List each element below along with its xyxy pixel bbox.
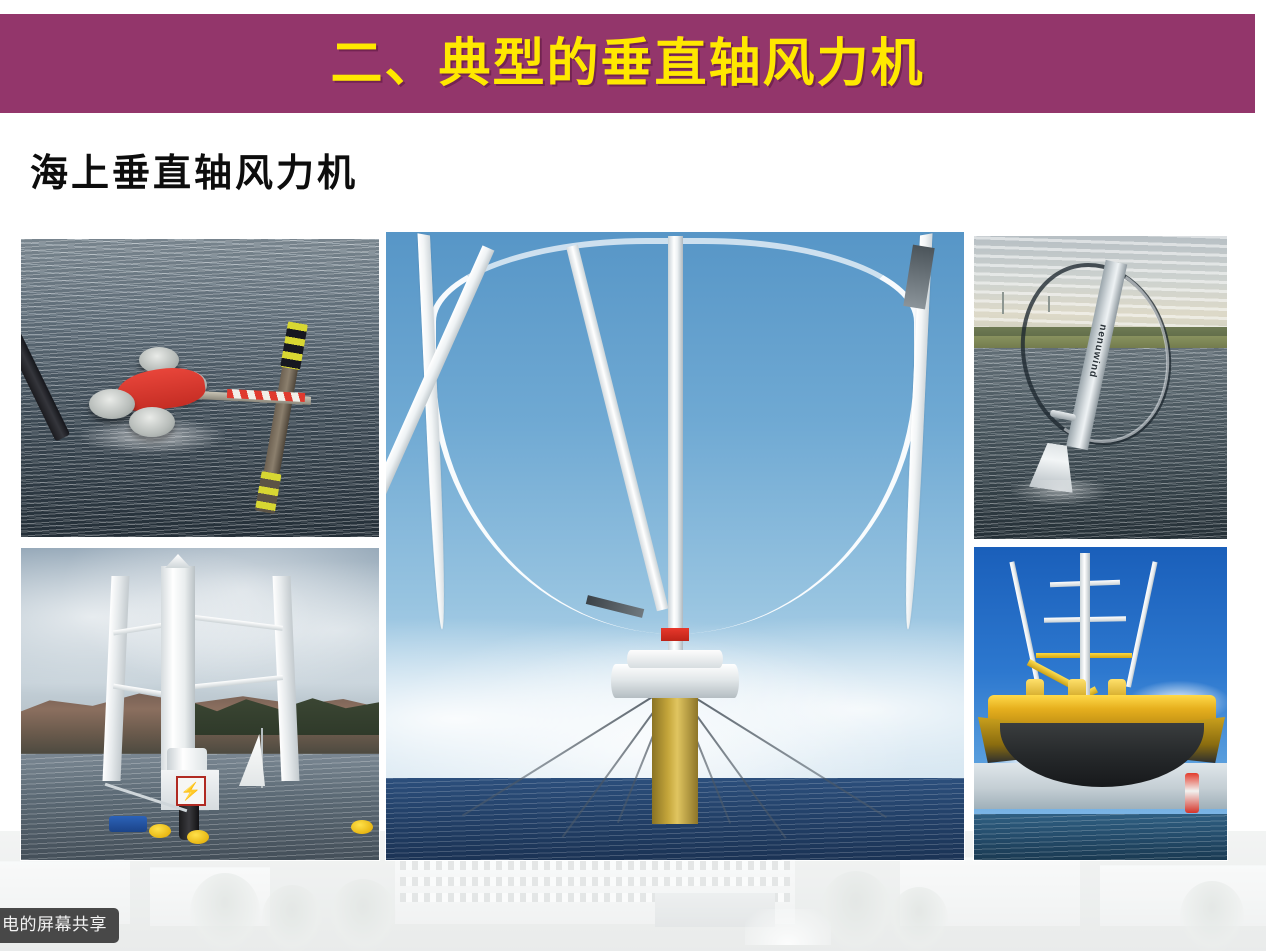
floating-platform: [611, 664, 739, 698]
watermark-window-row-1: [400, 861, 790, 870]
slide-title-band: 二、典型的垂直轴风力机: [0, 14, 1255, 113]
spar-column: [652, 694, 698, 824]
photo-scene: [386, 232, 964, 860]
float-pontoon: [89, 389, 135, 419]
watermark-tree: [1180, 881, 1244, 951]
photo-scene: nenuwind: [974, 236, 1227, 539]
photo-scene: [21, 239, 379, 537]
watermark-tree: [330, 879, 396, 951]
mast-red-marking: [661, 628, 689, 641]
channel-marker-buoy: [1185, 773, 1199, 813]
page-title: 二、典型的垂直轴风力机: [330, 38, 924, 90]
large-vawt-render: [386, 232, 964, 860]
watermark-tree: [190, 873, 260, 951]
electrical-hazard-icon: ⚡: [176, 776, 206, 806]
watermark-window-row-2: [400, 877, 790, 886]
h-rotor-vawt-photo: ⚡: [21, 548, 379, 860]
marker-buoy: [149, 824, 171, 838]
photo-scene: [974, 547, 1227, 860]
photo-scene: ⚡: [21, 548, 379, 860]
darrieus-ring-vawt-photo: nenuwind: [974, 236, 1227, 539]
slide-subtitle: 海上垂直轴风力机: [30, 142, 358, 197]
screen-share-label: 电的屏幕共享: [0, 908, 119, 943]
offshore-platform-vawt-photo: [974, 547, 1227, 860]
watermark-fountain: [745, 909, 831, 945]
water-wake: [1010, 480, 1110, 506]
presentation-slide: 二、典型的垂直轴风力机 海上垂直轴风力机: [0, 0, 1266, 951]
turbine-mast: [668, 236, 683, 666]
marker-buoy: [351, 820, 373, 834]
blue-float: [109, 816, 147, 832]
clouds: [21, 548, 379, 720]
watermark-tree: [890, 887, 948, 951]
distant-wind-turbine: [1002, 292, 1004, 314]
watermark-tree: [262, 885, 322, 951]
marker-buoy: [187, 830, 209, 844]
offshore-tilted-vawt-photo: [21, 239, 379, 537]
float-pontoon: [129, 407, 175, 437]
harbour-water-ripples: [974, 814, 1227, 860]
turbine-mast: [1080, 553, 1090, 695]
